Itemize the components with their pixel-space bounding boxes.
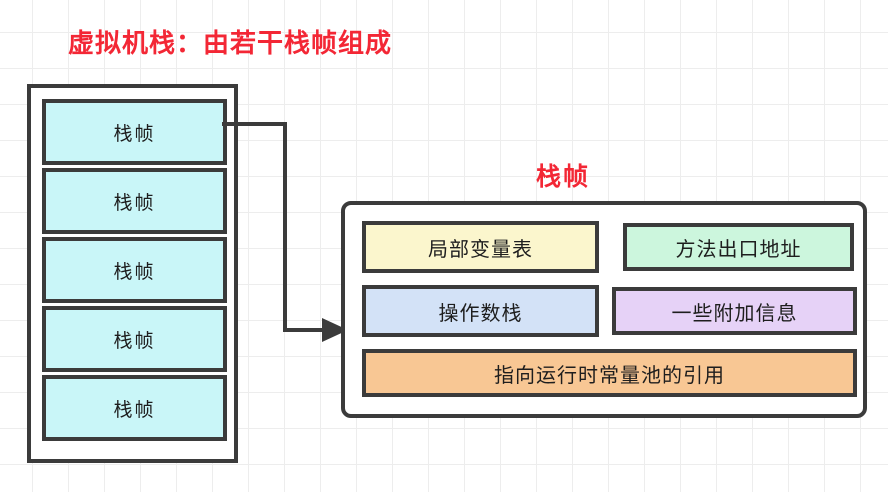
cell-additional-info: 一些附加信息 xyxy=(612,287,857,335)
stack-frame-2: 栈帧 xyxy=(42,168,227,234)
cell-constant-pool-reference: 指向运行时常量池的引用 xyxy=(362,349,857,397)
cell-method-return-address: 方法出口地址 xyxy=(623,223,854,271)
stack-frame-2-label: 栈帧 xyxy=(113,188,155,215)
detail-panel-title: 栈帧 xyxy=(463,157,663,193)
stack-frame-4: 栈帧 xyxy=(42,306,227,372)
stack-frame-5-label: 栈帧 xyxy=(113,395,155,422)
stack-frame-4-label: 栈帧 xyxy=(113,326,155,353)
cell-local-variable-table-label: 局部变量表 xyxy=(428,233,533,262)
cell-constant-pool-reference-label: 指向运行时常量池的引用 xyxy=(494,359,725,388)
stack-frame-3-label: 栈帧 xyxy=(113,257,155,284)
stack-frame-5: 栈帧 xyxy=(42,375,227,441)
stack-frame-3: 栈帧 xyxy=(42,237,227,303)
vm-stack-container: 栈帧 栈帧 栈帧 栈帧 栈帧 xyxy=(27,84,238,463)
cell-operand-stack: 操作数栈 xyxy=(362,285,599,337)
stack-frame-1: 栈帧 xyxy=(42,99,227,165)
page-title: 虚拟机栈：由若干栈帧组成 xyxy=(68,23,392,60)
cell-additional-info-label: 一些附加信息 xyxy=(672,297,798,326)
stack-frame-list: 栈帧 栈帧 栈帧 栈帧 栈帧 xyxy=(42,99,227,441)
stack-frame-1-label: 栈帧 xyxy=(113,119,155,146)
diagram-canvas: 虚拟机栈：由若干栈帧组成 栈帧 栈帧 栈帧 栈帧 栈帧 栈帧 xyxy=(0,0,888,492)
cell-local-variable-table: 局部变量表 xyxy=(362,221,599,273)
stack-frame-detail-panel: 局部变量表 方法出口地址 操作数栈 一些附加信息 指向运行时常量池的引用 xyxy=(341,201,867,418)
cell-operand-stack-label: 操作数栈 xyxy=(439,297,523,326)
detail-panel-body: 局部变量表 方法出口地址 操作数栈 一些附加信息 指向运行时常量池的引用 xyxy=(358,217,850,402)
cell-method-return-address-label: 方法出口地址 xyxy=(676,233,802,262)
